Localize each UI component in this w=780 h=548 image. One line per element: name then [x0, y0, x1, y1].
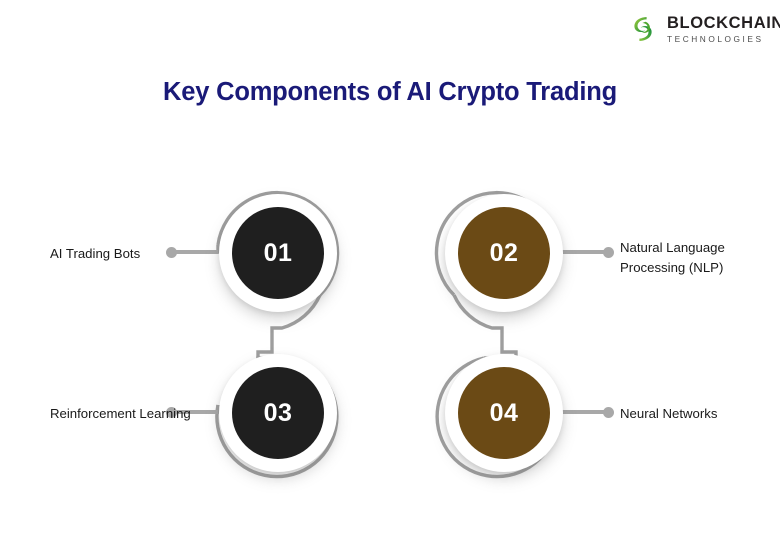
node-04-number: 04 — [458, 367, 550, 459]
connector-dot-04 — [603, 407, 614, 418]
logo-wordmark: BLOCKCHAIN TECHNOLOGIES — [667, 15, 780, 44]
node-03[interactable]: 03 — [219, 354, 337, 472]
node-02[interactable]: 02 — [445, 194, 563, 312]
node-04[interactable]: 04 — [445, 354, 563, 472]
node-01-label: AI Trading Bots — [50, 244, 200, 264]
connector-dot-02 — [603, 247, 614, 258]
page-title: Key Components of AI Crypto Trading — [0, 78, 780, 107]
node-03-number: 03 — [232, 367, 324, 459]
node-03-label: Reinforcement Learning — [50, 404, 200, 424]
node-04-label: Neural Networks — [620, 404, 775, 424]
node-01-number: 01 — [232, 207, 324, 299]
infographic-canvas: BLOCKCHAIN TECHNOLOGIES Key Components o… — [0, 0, 780, 548]
brand-logo: BLOCKCHAIN TECHNOLOGIES — [628, 14, 780, 44]
logo-title: BLOCKCHAIN — [667, 15, 780, 32]
node-01[interactable]: 01 — [219, 194, 337, 312]
node-02-number: 02 — [458, 207, 550, 299]
node-02-label: Natural Language Processing (NLP) — [620, 238, 775, 278]
green-spiral-logo-icon — [628, 14, 658, 44]
logo-subtitle: TECHNOLOGIES — [667, 35, 780, 43]
